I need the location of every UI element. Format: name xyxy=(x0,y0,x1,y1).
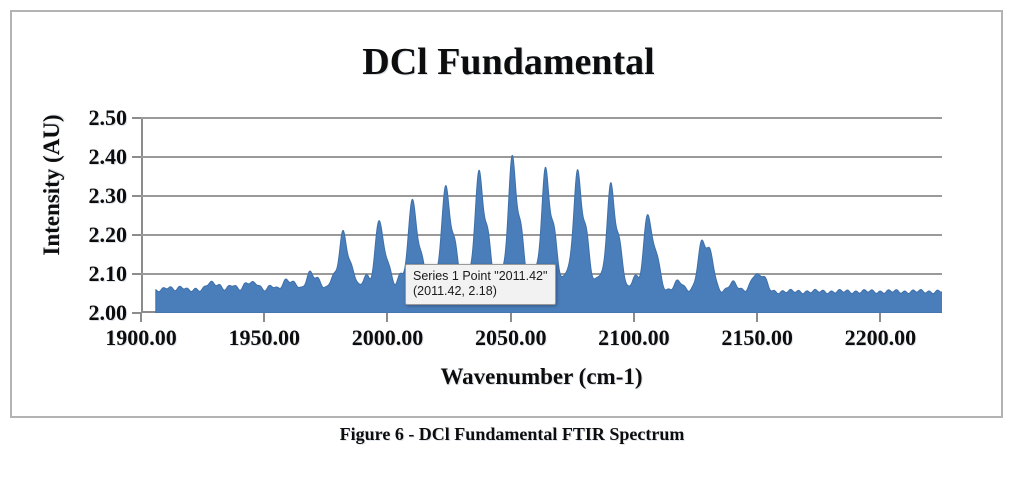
y-axis-tick-label: 2.00 xyxy=(89,300,128,326)
x-axis-tick-label: 2150.00 xyxy=(721,325,793,351)
tooltip-line-series: Series 1 Point "2011.42" xyxy=(413,269,547,284)
x-axis-tick-label: 1950.00 xyxy=(228,325,300,351)
y-axis-tick xyxy=(132,273,141,275)
x-axis-tick-label: 2050.00 xyxy=(475,325,547,351)
y-axis-tick-label: 2.50 xyxy=(89,105,128,131)
y-axis-tick xyxy=(132,156,141,158)
x-axis-tick-label: 2000.00 xyxy=(352,325,424,351)
x-axis-tick-label: 2100.00 xyxy=(598,325,670,351)
figure-frame: DCl Fundamental Intensity (AU) 2.002.102… xyxy=(10,10,1003,418)
figure-page: DCl Fundamental Intensity (AU) 2.002.102… xyxy=(0,0,1024,478)
chart-title: DCl Fundamental xyxy=(12,40,1005,84)
figure-caption: Figure 6 - DCl Fundamental FTIR Spectrum xyxy=(0,424,1024,445)
y-axis-tick-label: 2.40 xyxy=(89,144,128,170)
y-axis-tick xyxy=(132,117,141,119)
y-axis-tick xyxy=(132,234,141,236)
y-axis-tick xyxy=(132,195,141,197)
y-axis-tick-label: 2.20 xyxy=(89,222,128,248)
y-axis-tick-label: 2.10 xyxy=(89,261,128,287)
tooltip-line-coords: (2011.42, 2.18) xyxy=(413,284,547,299)
y-axis-tick-label: 2.30 xyxy=(89,183,128,209)
x-axis-tick-label: 1900.00 xyxy=(105,325,177,351)
data-point-tooltip: Series 1 Point "2011.42" (2011.42, 2.18) xyxy=(405,264,556,305)
y-axis-tick-labels: 2.002.102.202.302.402.50 xyxy=(12,118,141,313)
x-axis-title: Wavenumber (cm-1) xyxy=(141,364,942,390)
x-axis-tick-label: 2200.00 xyxy=(845,325,917,351)
x-axis-tick-labels: 1900.001950.002000.002050.002100.002150.… xyxy=(141,313,942,353)
